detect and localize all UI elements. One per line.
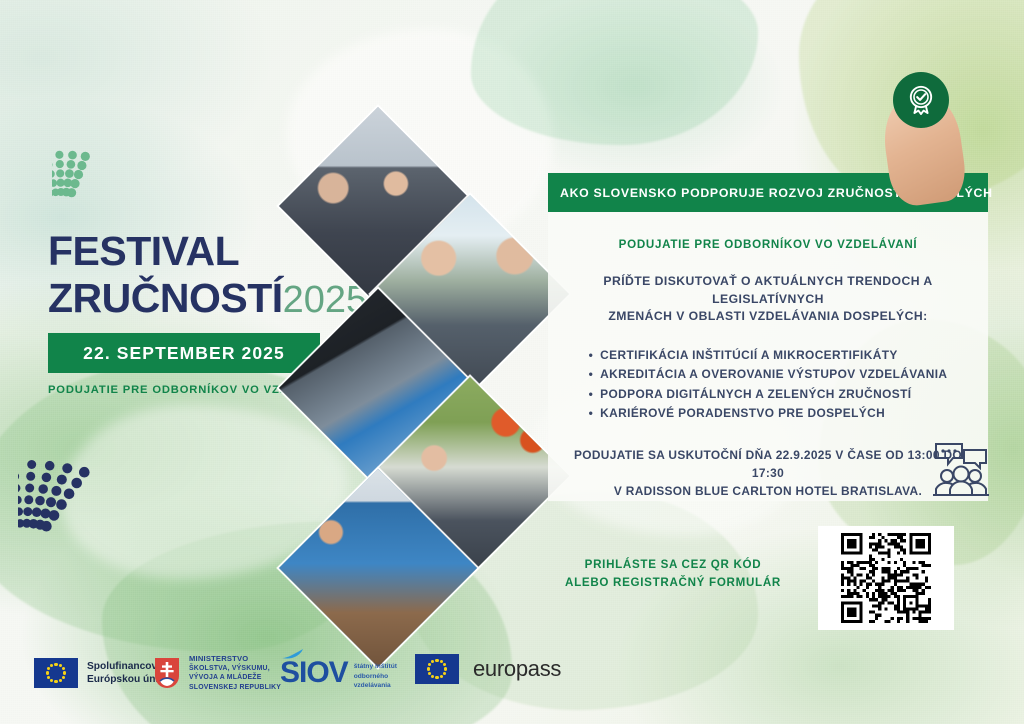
siov-sub-line1: štátny inštitút [354,663,397,670]
panel-lead-line1: PRÍĎTE DISKUTOVAŤ O AKTUÁLNYCH TRENDOCH … [562,273,974,308]
event-date-banner: 22. SEPTEMBER 2025 [48,333,320,373]
list-item: •AKREDITÁCIA A OVEROVANIE VÝSTUPOV VZDEL… [589,365,948,384]
people-discussion-icon [930,440,992,502]
registration-line1: PRIHLÁSTE SA CEZ QR KÓD [548,556,798,574]
dot-pattern-top-left [52,100,242,230]
list-item: •CERTIFIKÁCIA INŠTITÚCIÍ A MIKROCERTIFIK… [589,346,948,365]
bullet-marker-icon: • [589,348,594,362]
list-item-label: CERTIFIKÁCIA INŠTITÚCIÍ A MIKROCERTIFIKÁ… [600,348,898,362]
bullet-marker-icon: • [589,367,594,381]
slovak-coat-of-arms-icon [154,657,180,689]
event-datetime-line: PODUJATIE SA USKUTOČNÍ DŇA 22.9.2025 V Č… [562,447,974,483]
panel-lead-line2: ZMENÁCH V OBLASTI VZDELÁVANIA DOSPELÝCH: [562,308,974,326]
panel-body: PODUJATIE PRE ODBORNÍKOV VO VZDELÁVANÍ P… [548,212,988,501]
panel-lead-text: PRÍĎTE DISKUTOVAŤ O AKTUÁLNYCH TRENDOCH … [562,273,974,326]
logo-siov: SIOV štátny inštitút odborného vzdelávan… [280,649,397,690]
photo-collage [286,108,546,628]
poster-canvas: FESTIVAL ZRUČNOSTÍ2025 22. SEPTEMBER 202… [0,0,1024,724]
bullet-marker-icon: • [589,387,594,401]
ministry-line4: SLOVENSKEJ REPUBLIKY [189,684,281,691]
topic-bullet-list: •CERTIFIKÁCIA INŠTITÚCIÍ A MIKROCERTIFIK… [589,346,948,423]
when-prefix: PODUJATIE SA USKUTOČNÍ DŇA [574,448,776,462]
poster-title-word: ZRUČNOSTÍ [48,275,283,321]
siov-sub-line2: odborného [354,673,388,680]
list-item-label: AKREDITÁCIA A OVEROVANIE VÝSTUPOV VZDELÁ… [600,367,947,381]
when-mid: V ČASE OD [832,448,908,462]
award-seal-icon [893,72,949,128]
siov-subtitle: štátny inštitút odborného vzdelávania [354,662,397,690]
dot-pattern-bottom-left [18,372,298,562]
siov-wordmark: SIOV [280,656,348,689]
qr-code-image [825,533,947,623]
ministry-line3: VÝVOJA A MLÁDEŽE [189,674,262,681]
eu-flag-icon [34,658,78,688]
event-venue-line: V RADISSON BLUE CARLTON HOTEL BRATISLAVA… [562,483,974,501]
where-prefix: V [614,484,626,498]
registration-instructions: PRIHLÁSTE SA CEZ QR KÓD ALEBO REGISTRAČN… [548,556,798,593]
qr-code[interactable] [818,526,954,630]
list-item: •PODPORA DIGITÁLNYCH A ZELENÝCH ZRUČNOST… [589,385,948,404]
event-time-to: 17:30 [752,466,784,480]
logo-ministry-of-education: MINISTERSTVO ŠKOLSTVA, VÝSKUMU, VÝVOJA A… [154,654,281,692]
europass-wordmark: europass [473,656,561,682]
list-item-label: PODPORA DIGITÁLNYCH A ZELENÝCH ZRUČNOSTÍ [600,387,911,401]
registration-line2: ALEBO REGISTRAČNÝ FORMULÁR [548,574,798,592]
footer-logos: Spolufinancovaný Európskou úniou MINISTE… [0,632,1024,724]
siov-sub-line3: vzdelávania [354,682,391,689]
event-date-value: 22.9.2025 [776,448,832,462]
list-item-label: KARIÉROVÉ PORADENSTVO PRE DOSPELÝCH [600,406,885,420]
ministry-line2: ŠKOLSTVA, VÝSKUMU, [189,665,270,672]
siov-mark: SIOV [280,649,348,687]
list-item: •KARIÉROVÉ PORADENSTVO PRE DOSPELÝCH [589,404,948,423]
info-panel: AKO SLOVENSKO PODPORUJE ROZVOJ ZRUČNOSTÍ… [548,173,988,501]
panel-subheading: PODUJATIE PRE ODBORNÍKOV VO VZDELÁVANÍ [562,238,974,251]
ministry-label: MINISTERSTVO ŠKOLSTVA, VÝSKUMU, VÝVOJA A… [189,654,281,692]
bullet-marker-icon: • [589,406,594,420]
eu-flag-icon [415,654,459,684]
event-when-where: PODUJATIE SA USKUTOČNÍ DŇA 22.9.2025 V Č… [562,447,974,501]
ministry-line1: MINISTERSTVO [189,654,248,663]
event-venue-value: RADISSON BLUE CARLTON HOTEL BRATISLAVA. [626,484,922,498]
logo-europass: europass [415,654,561,684]
